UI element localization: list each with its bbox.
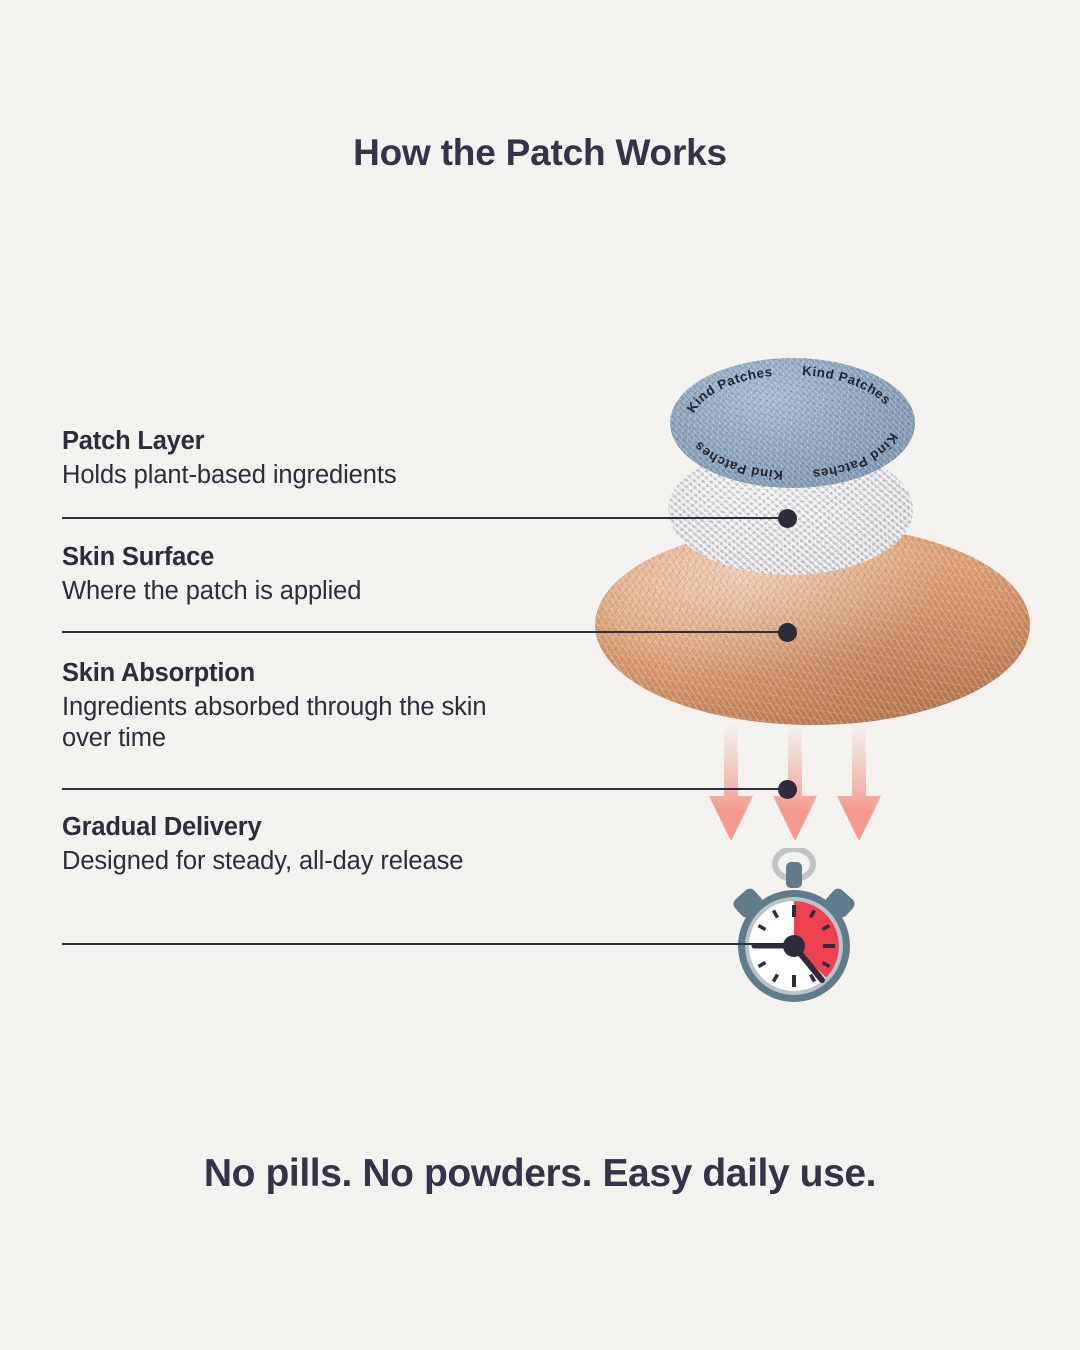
brand-text-1: Kind Patches [802, 363, 894, 407]
absorption-arrow-right [836, 724, 882, 842]
callout-title-gradual-delivery: Gradual Delivery [62, 812, 532, 842]
brand-text-2: Kind Patches [812, 431, 902, 482]
patch-brand-text-ring: Kind Patches Kind Patches Kind Patches K… [670, 358, 915, 488]
callout-title-skin-surface: Skin Surface [62, 542, 532, 572]
stopwatch-icon [721, 848, 867, 1008]
callout-title-skin-absorption: Skin Absorption [62, 658, 532, 688]
callout-desc-gradual-delivery: Designed for steady, all-day release [62, 846, 532, 877]
leader-line-skin-absorption [62, 788, 789, 790]
absorption-arrow-left [708, 724, 754, 842]
callout-desc-skin-absorption: Ingredients absorbed through the skin ov… [62, 692, 532, 754]
leader-line-skin-surface [62, 631, 789, 633]
patch-disc: Kind Patches Kind Patches Kind Patches K… [670, 358, 915, 488]
leader-line-patch-layer [62, 517, 789, 519]
leader-dot-skin-surface [778, 623, 797, 642]
callout-title-patch-layer: Patch Layer [62, 426, 532, 456]
stopwatch-crown-stem [786, 862, 802, 888]
stopwatch-center-hub [783, 935, 805, 957]
callout-patch-layer: Patch Layer Holds plant-based ingredient… [62, 426, 532, 491]
leader-dot-skin-absorption [778, 780, 797, 799]
callout-desc-skin-surface: Where the patch is applied [62, 576, 532, 607]
tagline: No pills. No powders. Easy daily use. [0, 1152, 1080, 1196]
callout-skin-surface: Skin Surface Where the patch is applied [62, 542, 532, 607]
infographic-page: How the Patch Works Kind Patches Kind Pa… [0, 0, 1080, 1350]
patch-diagram: Kind Patches Kind Patches Kind Patches K… [560, 340, 1060, 1030]
brand-text-4: Kind Patches [684, 364, 774, 415]
callout-gradual-delivery: Gradual Delivery Designed for steady, al… [62, 812, 532, 877]
leader-line-gradual-delivery [62, 943, 786, 945]
page-title: How the Patch Works [0, 132, 1080, 174]
brand-text-3: Kind Patches [691, 438, 783, 482]
callout-desc-patch-layer: Holds plant-based ingredients [62, 460, 532, 491]
callout-skin-absorption: Skin Absorption Ingredients absorbed thr… [62, 658, 532, 754]
leader-dot-patch-layer [778, 509, 797, 528]
